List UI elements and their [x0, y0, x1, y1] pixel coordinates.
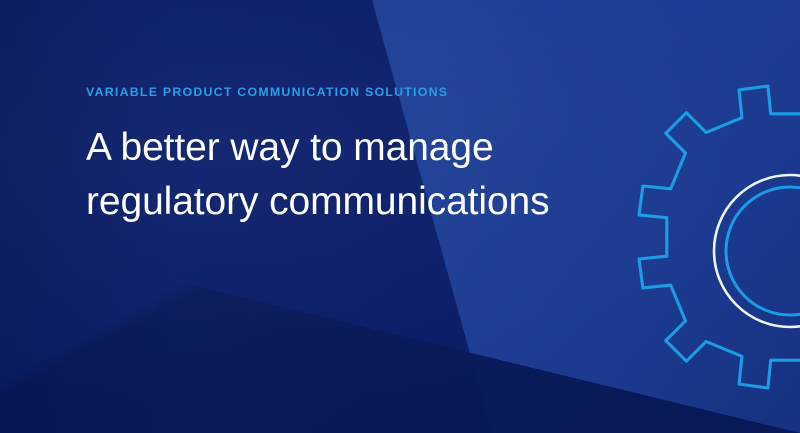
eyebrow-label: VARIABLE PRODUCT COMMUNICATION SOLUTIONS [86, 84, 646, 100]
headline-line-2: regulatory communications [86, 175, 646, 229]
hero-banner: VARIABLE PRODUCT COMMUNICATION SOLUTIONS… [0, 0, 800, 433]
page-title: A better way to manage regulatory commun… [86, 100, 646, 229]
hero-copy-block: VARIABLE PRODUCT COMMUNICATION SOLUTIONS… [86, 84, 646, 229]
headline-line-1: A better way to manage [86, 121, 646, 175]
